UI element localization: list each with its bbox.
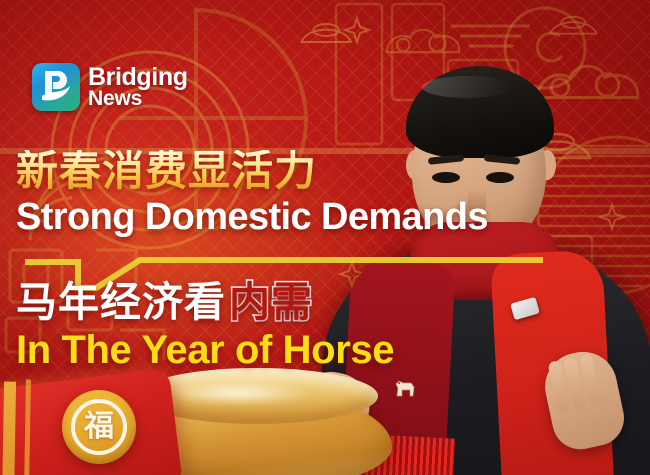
brand-name-line1: Bridging bbox=[88, 65, 188, 89]
brand-name-line2: News bbox=[88, 89, 188, 109]
brand-logo[interactable]: Bridging News bbox=[32, 63, 188, 111]
headline-english-1: Strong Domestic Demands bbox=[16, 198, 556, 236]
horse-figurine-pin-icon bbox=[392, 376, 418, 400]
brand-wordmark: Bridging News bbox=[88, 65, 188, 109]
headline-block: 新春消费显活力 Strong Domestic Demands 马年经济看内需 … bbox=[16, 150, 556, 370]
bridging-news-logo-icon bbox=[32, 63, 80, 111]
headline-chinese-1: 新春消费显活力 bbox=[16, 150, 556, 192]
headline-english-2: In The Year of Horse bbox=[16, 330, 556, 370]
headline-chinese-2: 马年经济看内需 bbox=[16, 282, 556, 323]
headline-chinese-2-plain: 马年经济看 bbox=[16, 278, 226, 326]
hair bbox=[406, 66, 554, 158]
fu-character: 福 bbox=[71, 399, 127, 455]
new-year-news-title-card: 福 Bridging News 新春消费显活力 Strong Domestic … bbox=[0, 0, 650, 475]
headline-chinese-2-accent: 内需 bbox=[229, 278, 313, 326]
fu-coin: 福 bbox=[62, 390, 136, 464]
